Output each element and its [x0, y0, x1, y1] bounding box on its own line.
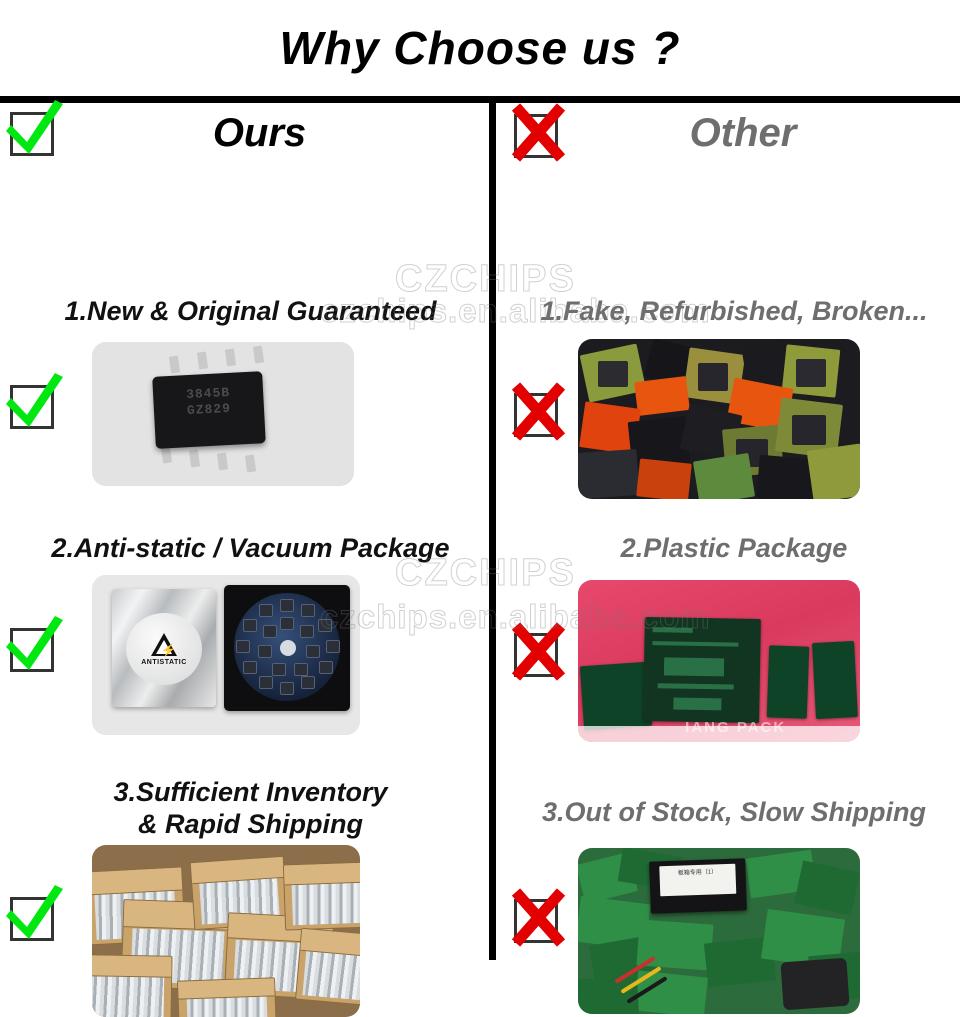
module-label: 板箱专用（1）	[659, 864, 736, 897]
check-mark-icon	[1, 614, 67, 678]
antistatic-label: ANTISTATIC	[141, 659, 187, 666]
why-choose-us-comparison-graphic: Why Choose us ? Ours 1.New & Original Gu…	[0, 0, 960, 960]
checkbox-ours-2	[10, 628, 54, 672]
photo-other-1-scrap-chips	[578, 339, 860, 499]
row-ours-1-text: 1.New & Original Guaranteed	[0, 296, 501, 328]
row-ours-3-text-line1: 3.Sufficient Inventory	[113, 777, 387, 807]
row-other-2-text: 2.Plastic Package	[496, 533, 960, 565]
row-other-1-text: 1.Fake, Refurbished, Broken...	[496, 296, 960, 328]
check-mark-icon	[1, 371, 67, 435]
checkbox-ours-1	[10, 385, 54, 429]
black-module: 板箱专用（1）	[649, 858, 747, 913]
cross-mark-icon	[505, 379, 571, 445]
header-divider-rule	[0, 96, 960, 103]
title-band: Why Choose us ?	[0, 0, 960, 96]
tape-reel	[224, 585, 350, 711]
photo-ours-1-ic-chip: 3845B GZ829	[92, 342, 354, 486]
row-ours-3-text: 3.Sufficient Inventory & Rapid Shipping	[0, 777, 501, 841]
cross-mark-icon	[505, 885, 571, 951]
row-other-3-text: 3.Out of Stock, Slow Shipping	[496, 797, 960, 829]
column-label-other: Other	[496, 111, 960, 156]
column-ours: Ours 1.New & Original Guaranteed	[0, 103, 489, 960]
column-header-ours: Ours	[0, 103, 489, 185]
row-ours-3-text-line2: & Rapid Shipping	[138, 809, 363, 839]
antistatic-bag: ⚡ ANTISTATIC	[112, 589, 216, 707]
photo-other-3-scrap-boards: 板箱专用（1）	[578, 848, 860, 1014]
xbox-other-2	[514, 633, 558, 677]
comparison-columns: Ours 1.New & Original Guaranteed	[0, 103, 960, 960]
page-title: Why Choose us ?	[280, 21, 681, 75]
row-ours-2-text: 2.Anti-static / Vacuum Package	[0, 533, 501, 565]
checkbox-ours-3	[10, 897, 54, 941]
black-adapter	[780, 958, 849, 1010]
photo-other-2-plastic-package: IANG PACK	[578, 580, 860, 742]
column-header-other: Other	[496, 103, 960, 185]
xbox-other-3	[514, 899, 558, 943]
package-brand-text: IANG PACK	[685, 719, 786, 736]
cross-mark-icon	[505, 619, 571, 685]
photo-ours-3-inventory-cartons	[92, 845, 360, 1017]
xbox-other-1	[514, 393, 558, 437]
column-label-ours: Ours	[0, 111, 489, 156]
column-other: Other 1.Fake, Refurbished, Broken...	[496, 103, 960, 960]
check-mark-icon	[1, 883, 67, 947]
chip-marking: 3845B GZ829	[153, 383, 265, 421]
esd-warning-triangle-icon: ⚡	[151, 633, 177, 656]
photo-ours-2-antistatic-package: ⚡ ANTISTATIC	[92, 575, 360, 735]
